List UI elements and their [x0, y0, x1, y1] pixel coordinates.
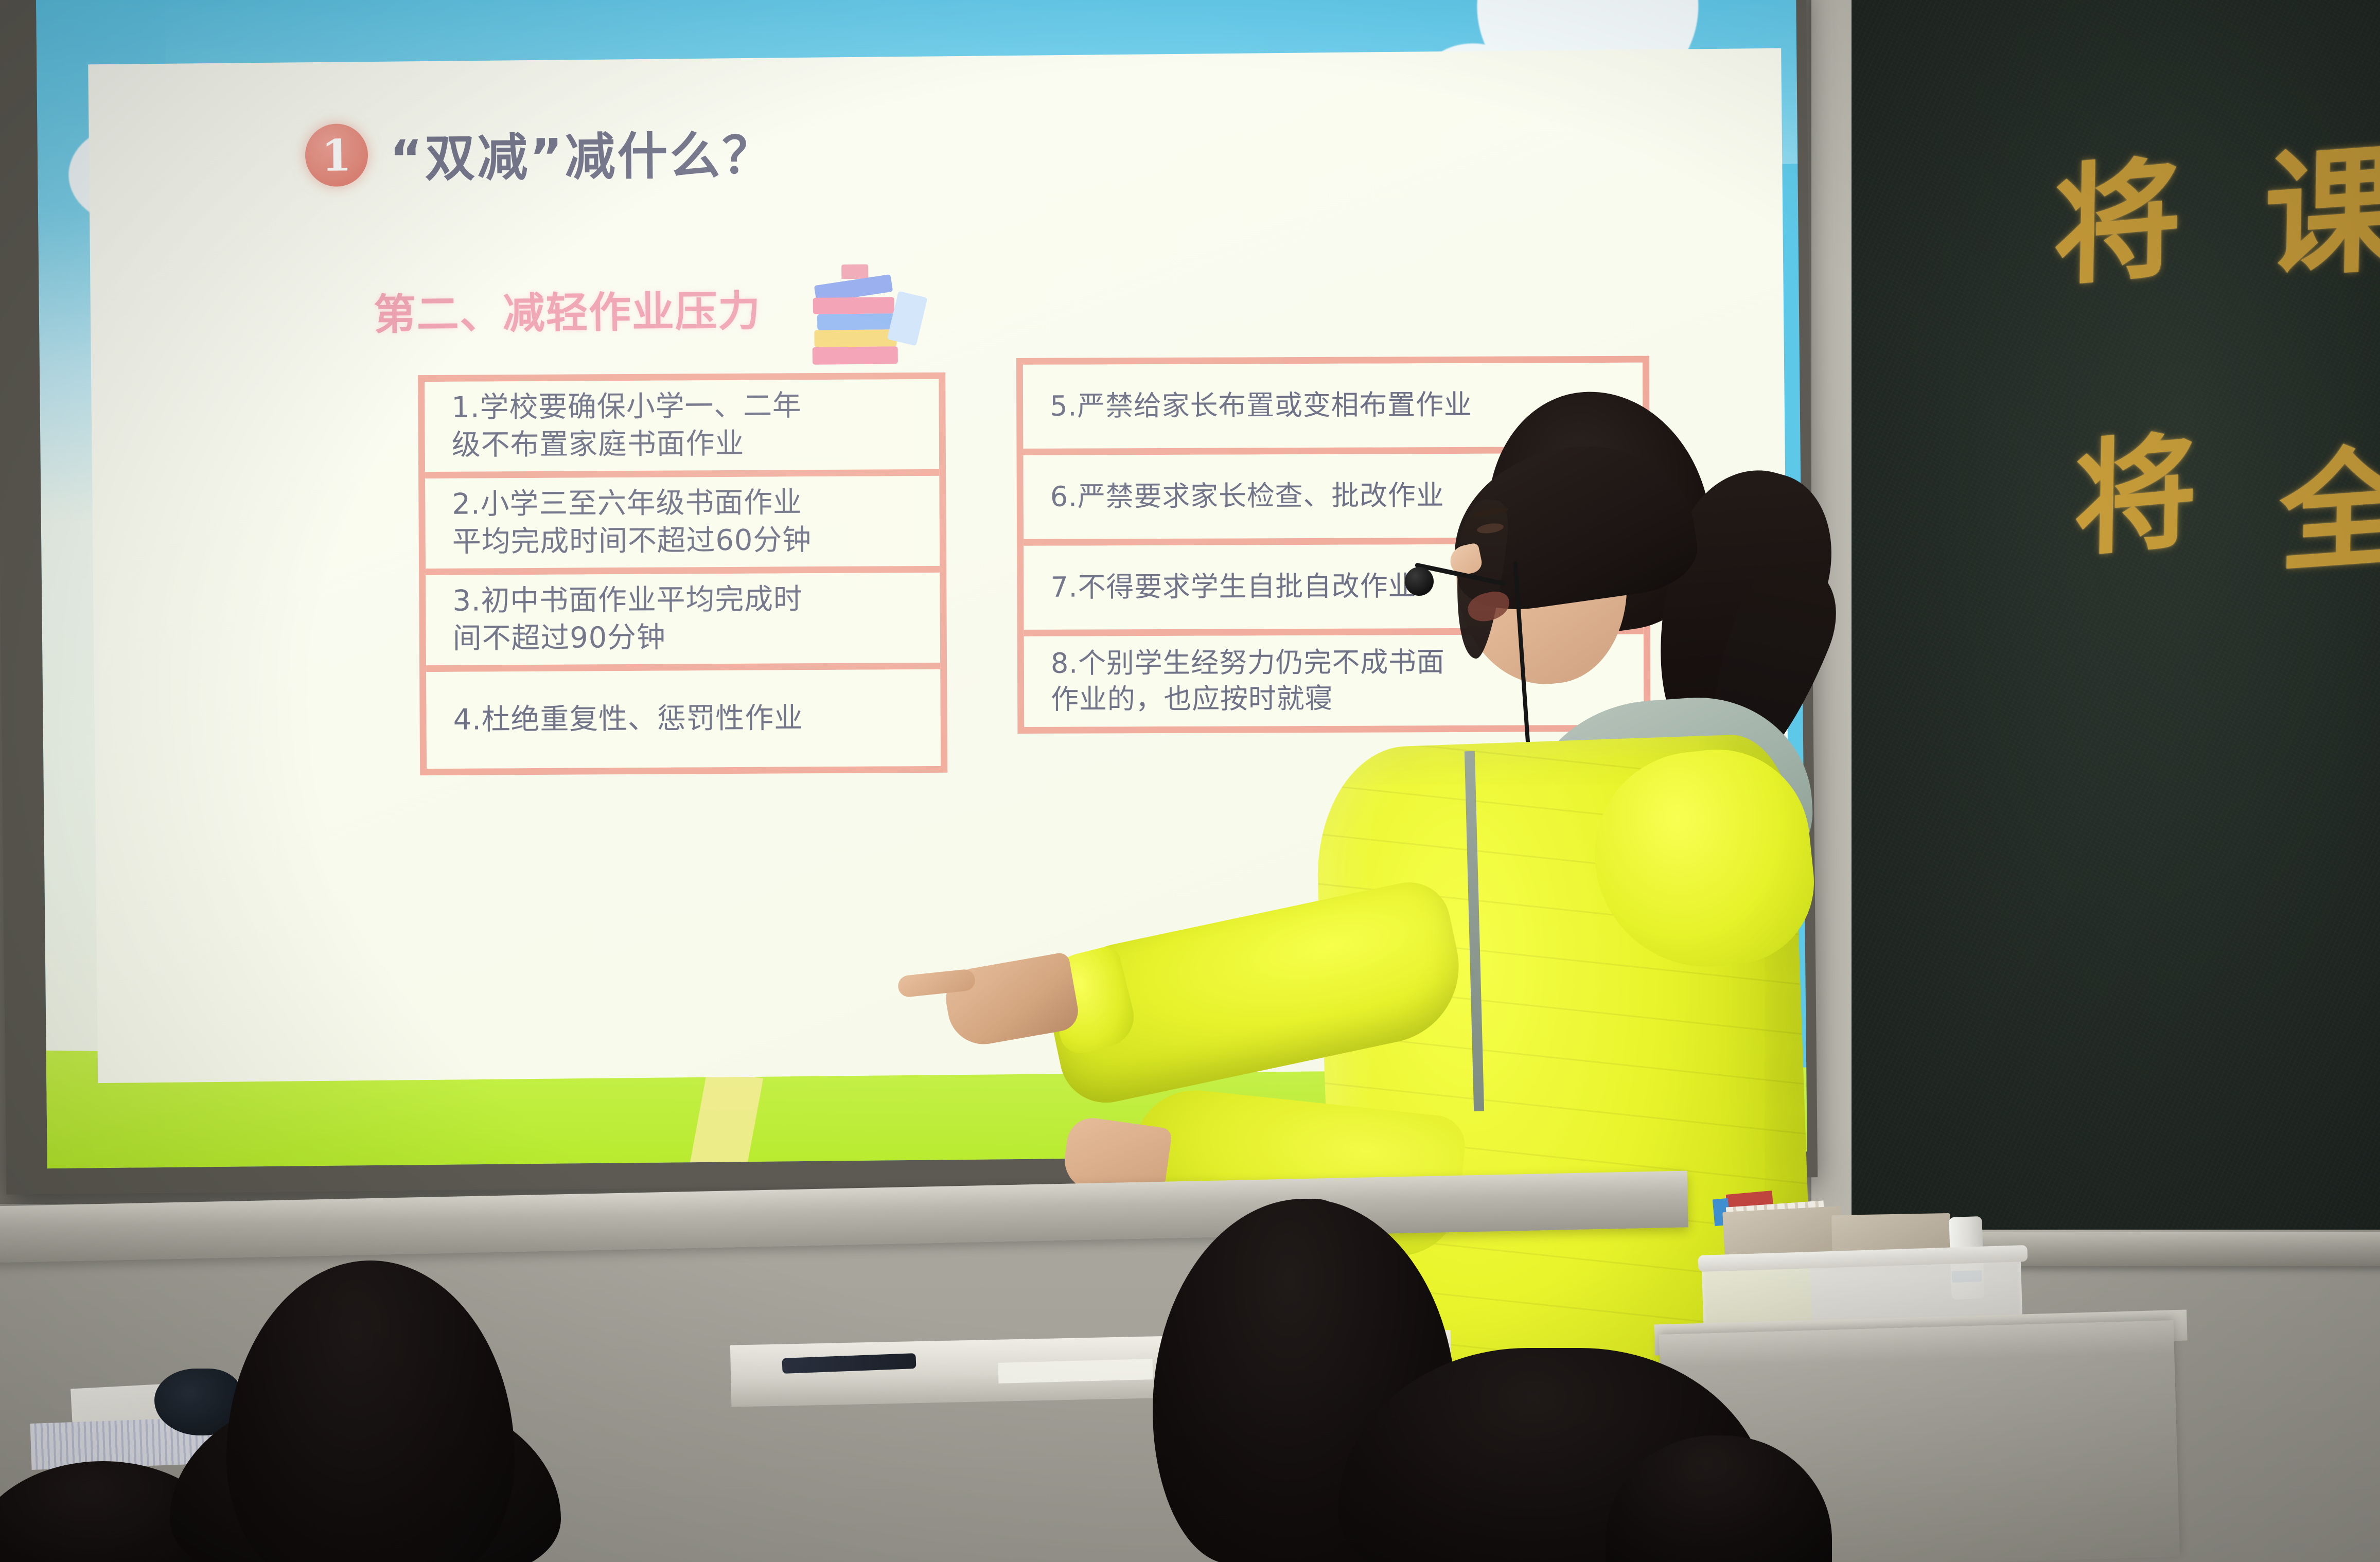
rule-text: 4.杜绝重复性、惩罚性作业 — [453, 700, 803, 739]
classroom-scene: 将 课 将 全 1 “双减”减什么？ 第二、减轻作业压力 — [0, 0, 2380, 1562]
headset-microphone-icon — [1405, 567, 1434, 596]
section-number-badge: 1 — [305, 123, 368, 187]
slide-title-row: 1 “双减”减什么？ — [305, 114, 775, 192]
chalk-character-3: 将 — [2072, 390, 2201, 580]
book-pink-bottom — [813, 346, 898, 365]
rule-box: 1.学校要确保小学一、二年 级不布置家庭书面作业 — [425, 379, 939, 478]
rule-box: 2.小学三至六年级书面作业 平均完成时间不超过60分钟 — [425, 476, 940, 575]
book-top-marker — [841, 264, 868, 279]
chalk-character-4: 全 — [2278, 401, 2380, 597]
left-rules-box-group: 1.学校要确保小学一、二年 级不布置家庭书面作业 2.小学三至六年级书面作业 平… — [418, 372, 947, 775]
book-yellow — [814, 329, 896, 347]
paper-on-ledge — [998, 1359, 1153, 1383]
chalk-character-2: 课 — [2263, 98, 2380, 305]
slide-subtitle: 第二、减轻作业压力 — [373, 277, 761, 342]
hill-path-stripe — [686, 1068, 763, 1168]
rule-box: 4.杜绝重复性、惩罚性作业 — [426, 669, 941, 769]
book-pink — [813, 297, 894, 314]
book-lightblue — [817, 313, 895, 330]
chalk-character-1: 将 — [2052, 112, 2185, 311]
slide-title: “双减”减什么？ — [389, 114, 775, 191]
rule-text: 3.初中书面作业平均完成时 间不超过90分钟 — [452, 581, 803, 658]
rule-box: 3.初中书面作业平均完成时 间不超过90分钟 — [426, 573, 940, 672]
stack-of-books-icon — [805, 265, 917, 377]
left-rules-column: 1.学校要确保小学一、二年 级不布置家庭书面作业 2.小学三至六年级书面作业 平… — [418, 370, 949, 775]
rule-text: 1.学校要确保小学一、二年 级不布置家庭书面作业 — [451, 387, 802, 464]
rule-text: 2.小学三至六年级书面作业 平均完成时间不超过60分钟 — [452, 484, 812, 561]
